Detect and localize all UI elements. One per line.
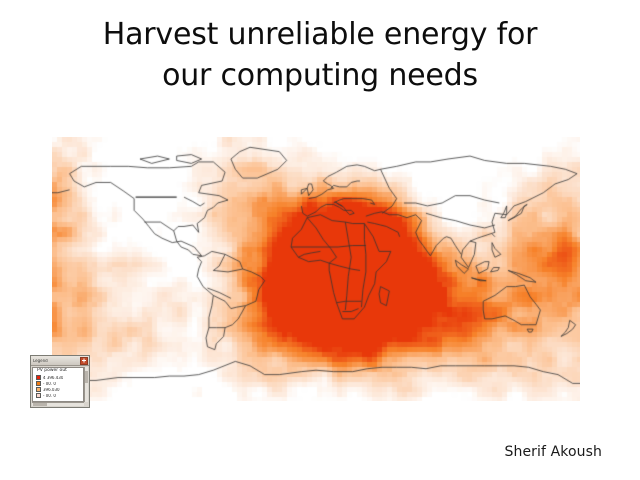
legend-color-swatch: [36, 387, 41, 392]
legend-value-label: - 00. 0: [43, 394, 56, 398]
author-signature: Sherif Akoush: [380, 444, 602, 460]
scrollbar-thumb[interactable]: [85, 371, 88, 383]
list-item[interactable]: - 00. 0: [33, 393, 83, 399]
presentation-slide: Harvest unreliable energy for our comput…: [0, 0, 640, 480]
legend-color-swatch: [36, 381, 41, 386]
legend-value-label: 4 396.430: [43, 376, 63, 380]
legend-value-label: 396.030: [43, 388, 60, 392]
legend-window-title: Legend: [31, 359, 80, 363]
legend-header-label: PV power out: [33, 368, 83, 375]
legend-vertical-scrollbar[interactable]: [84, 367, 88, 402]
legend-body: PV power out 4 396.430 - 00. 0 396.030 -…: [32, 367, 84, 402]
heatmap-canvas: [52, 137, 580, 401]
legend-horizontal-scrollbar[interactable]: [32, 402, 84, 406]
legend-resize-corner[interactable]: [84, 402, 88, 406]
legend-color-swatch: [36, 393, 41, 398]
legend-value-label: - 00. 0: [43, 382, 56, 386]
legend-window[interactable]: Legend PV power out 4 396.430 - 00. 0 39…: [30, 355, 90, 408]
legend-titlebar[interactable]: Legend: [31, 356, 89, 366]
world-pv-power-heatmap: [52, 137, 580, 401]
scrollbar-thumb[interactable]: [33, 403, 47, 406]
legend-color-swatch: [36, 375, 41, 380]
close-icon[interactable]: [80, 357, 88, 365]
page-title: Harvest unreliable energy for our comput…: [30, 14, 610, 97]
